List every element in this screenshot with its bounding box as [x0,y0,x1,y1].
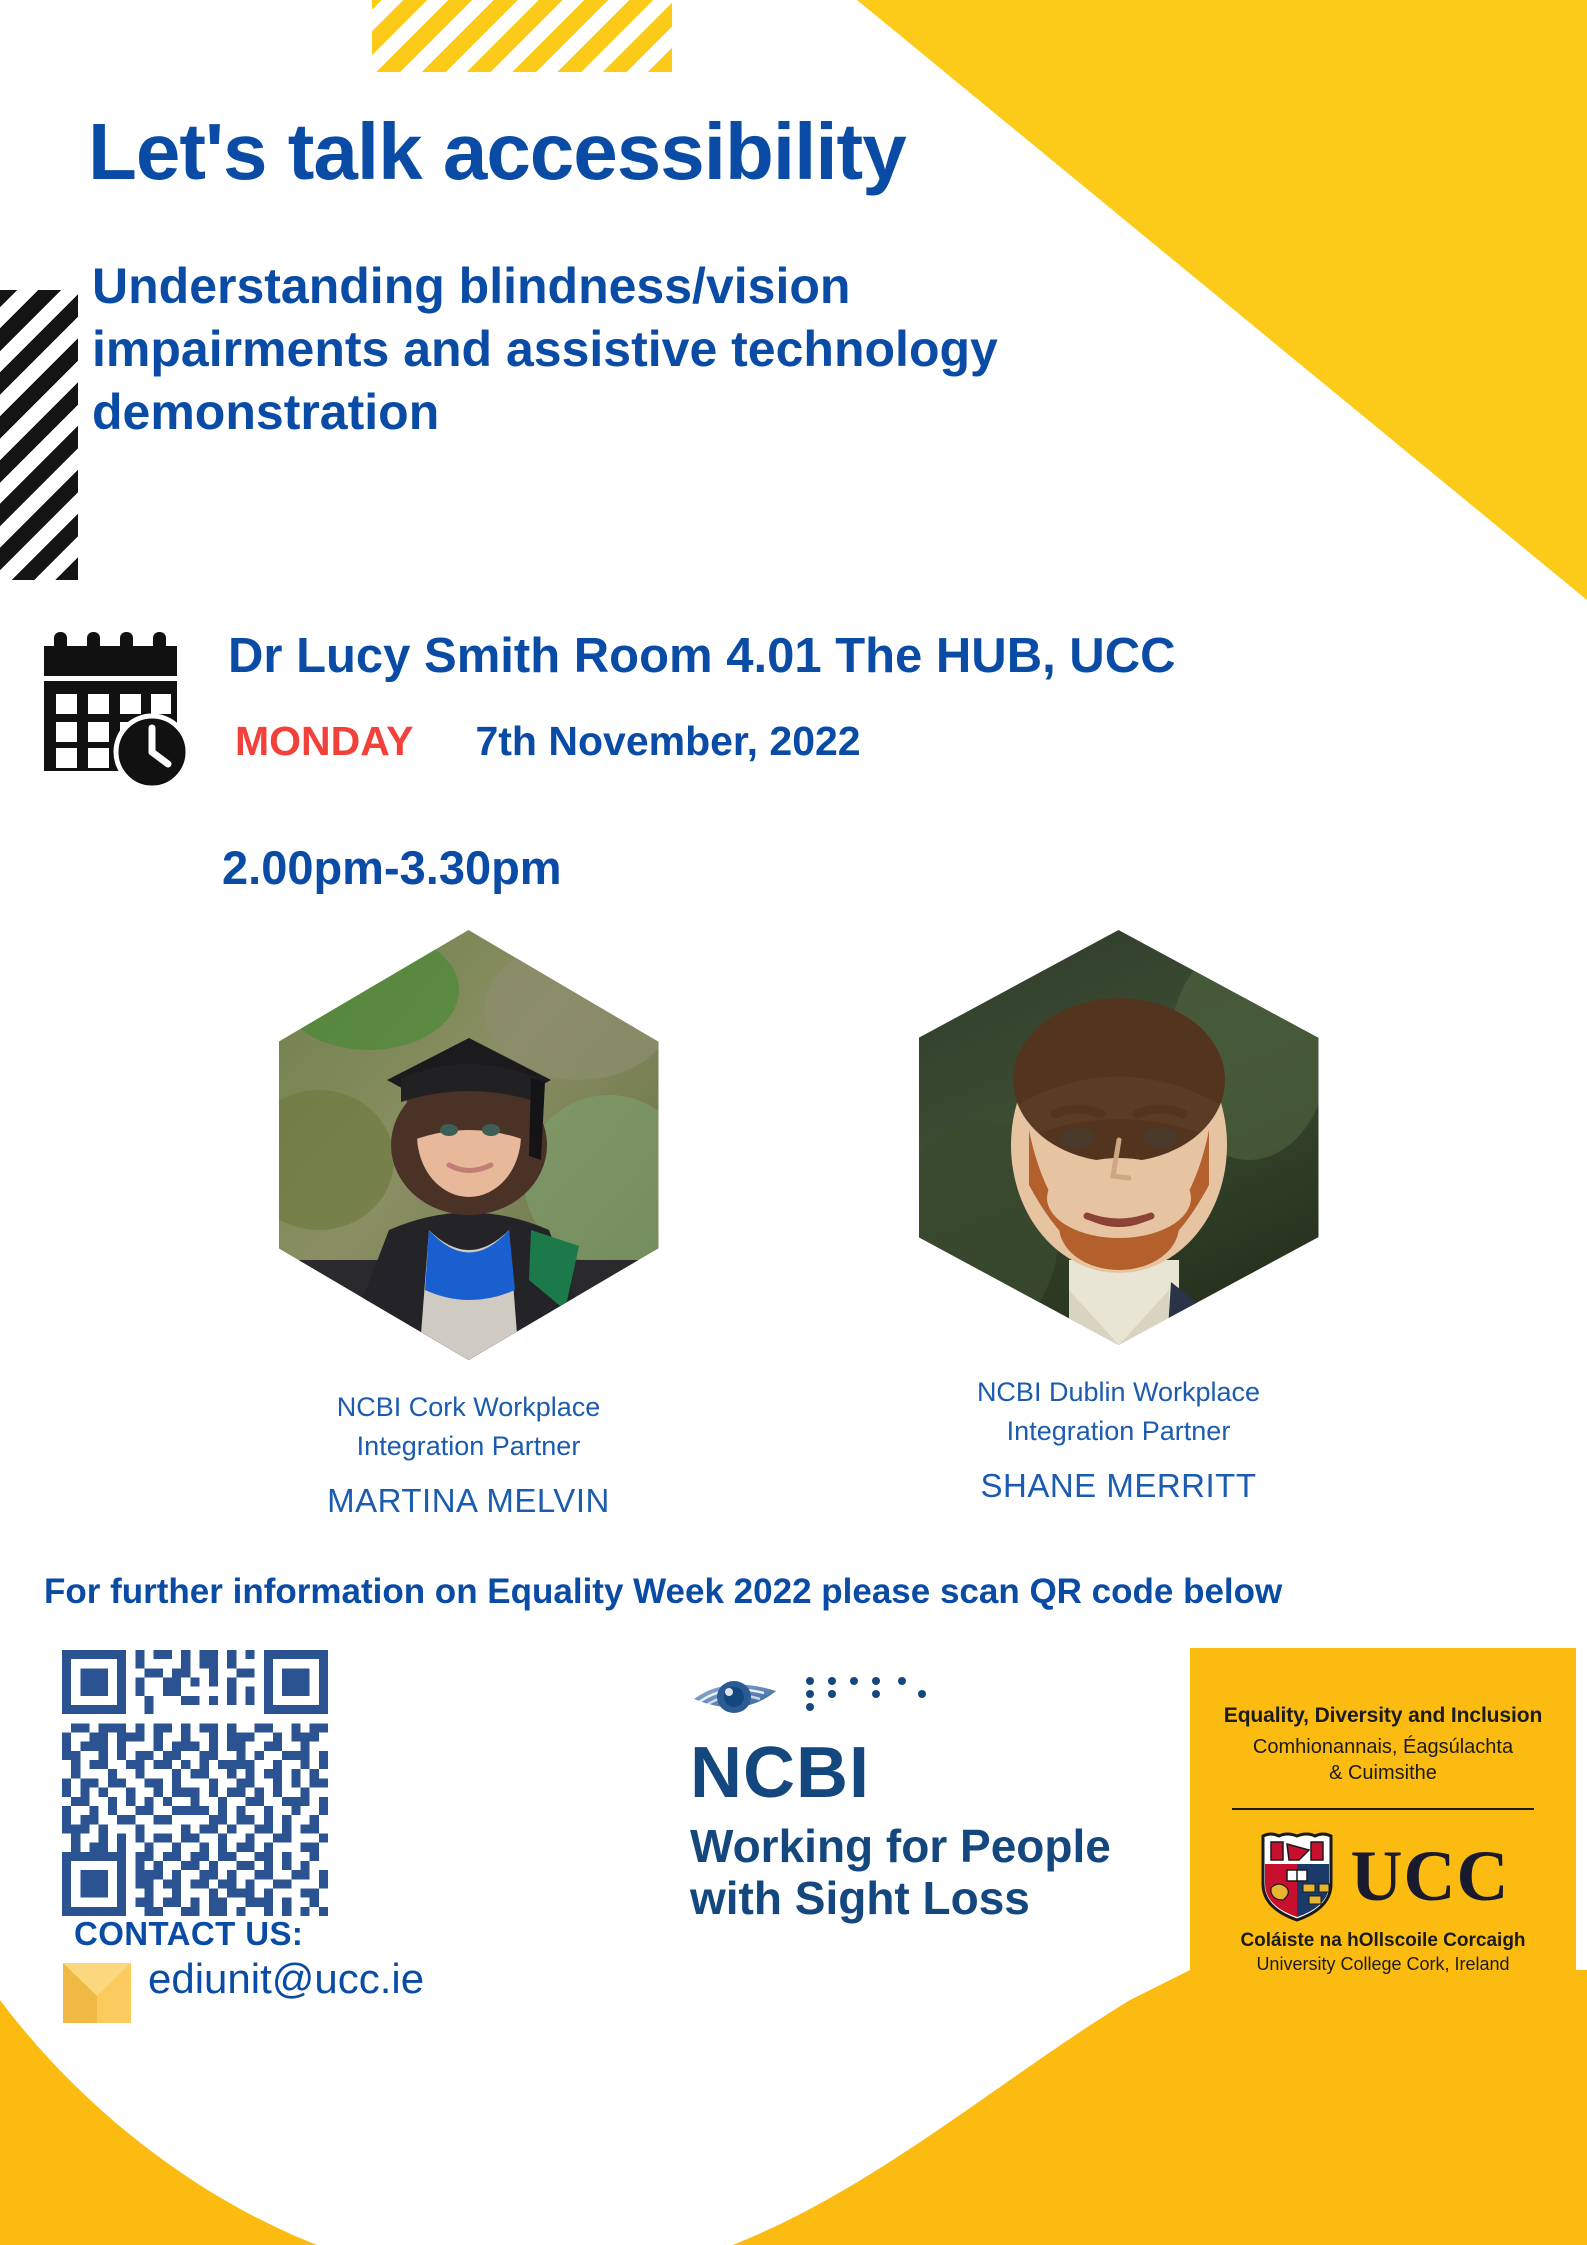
speaker-card: NCBI Cork Workplace Integration Partner … [249,930,689,1520]
equality-week-info-line: For further information on Equality Week… [44,1572,1282,1612]
speaker-role: NCBI Cork Workplace Integration Partner [249,1388,689,1466]
ncbi-tagline-line2: with Sight Loss [690,1873,1170,1925]
ncbi-tagline-line1: Working for People [690,1821,1170,1873]
speaker-card: NCBI Dublin Workplace Integration Partne… [899,930,1339,1520]
ncbi-tagline: Working for People with Sight Loss [690,1821,1170,1924]
speaker-photo-martina-melvin [279,930,659,1360]
speaker-role-line1: NCBI Cork Workplace [249,1388,689,1427]
ucc-crest-icon [1257,1830,1337,1922]
qr-code[interactable] [62,1650,328,1916]
ucc-wordmark: UCC [1351,1844,1510,1909]
speaker-role-line2: Integration Partner [899,1412,1339,1451]
poster-canvas: Let's talk accessibility Understanding b… [0,0,1587,2245]
speaker-name: MARTINA MELVIN [249,1482,689,1520]
ncbi-logo: NCBI Working for People with Sight Loss [690,1675,1170,1924]
event-time: 2.00pm-3.30pm [222,840,562,895]
event-date: 7th November, 2022 [475,718,860,764]
top-yellow-stripes-decoration [372,0,672,72]
ucc-name-irish: Coláiste na hOllscoile Corcaigh [1208,1930,1558,1952]
edi-title-irish-line1: Comhionannais, Éagsúlachta [1208,1734,1558,1760]
page-title: Let's talk accessibility [88,112,906,192]
speakers-section: NCBI Cork Workplace Integration Partner … [0,930,1587,1520]
calendar-clock-icon [44,624,199,789]
envelope-icon [62,1962,132,2024]
eye-icon [690,1675,782,1719]
edi-divider [1232,1808,1534,1810]
edi-title-english: Equality, Diversity and Inclusion [1208,1704,1558,1728]
ucc-edi-logo-box: Equality, Diversity and Inclusion Comhio… [1190,1648,1576,2026]
ucc-name-english: University College Cork, Ireland [1208,1954,1558,1975]
event-venue: Dr Lucy Smith Room 4.01 The HUB, UCC [228,628,1175,684]
speaker-role: NCBI Dublin Workplace Integration Partne… [899,1373,1339,1451]
left-black-stripes-decoration [0,290,78,580]
contact-us-label: CONTACT US: [74,1915,303,1953]
ncbi-wordmark: NCBI [690,1737,1170,1809]
speaker-role-line1: NCBI Dublin Workplace [899,1373,1339,1412]
edi-title-irish: Comhionannais, Éagsúlachta & Cuimsithe [1208,1734,1558,1786]
braille-dots-icon [802,1675,942,1715]
contact-email[interactable]: ediunit@ucc.ie [148,1955,424,2003]
speaker-photo-shane-merritt [919,930,1319,1345]
event-date-line: MONDAY7th November, 2022 [235,718,861,765]
speaker-name: SHANE MERRITT [899,1467,1339,1505]
event-day: MONDAY [235,718,413,764]
page-subtitle: Understanding blindness/vision impairmen… [92,255,1092,444]
speaker-role-line2: Integration Partner [249,1427,689,1466]
edi-title-irish-line2: & Cuimsithe [1208,1760,1558,1786]
